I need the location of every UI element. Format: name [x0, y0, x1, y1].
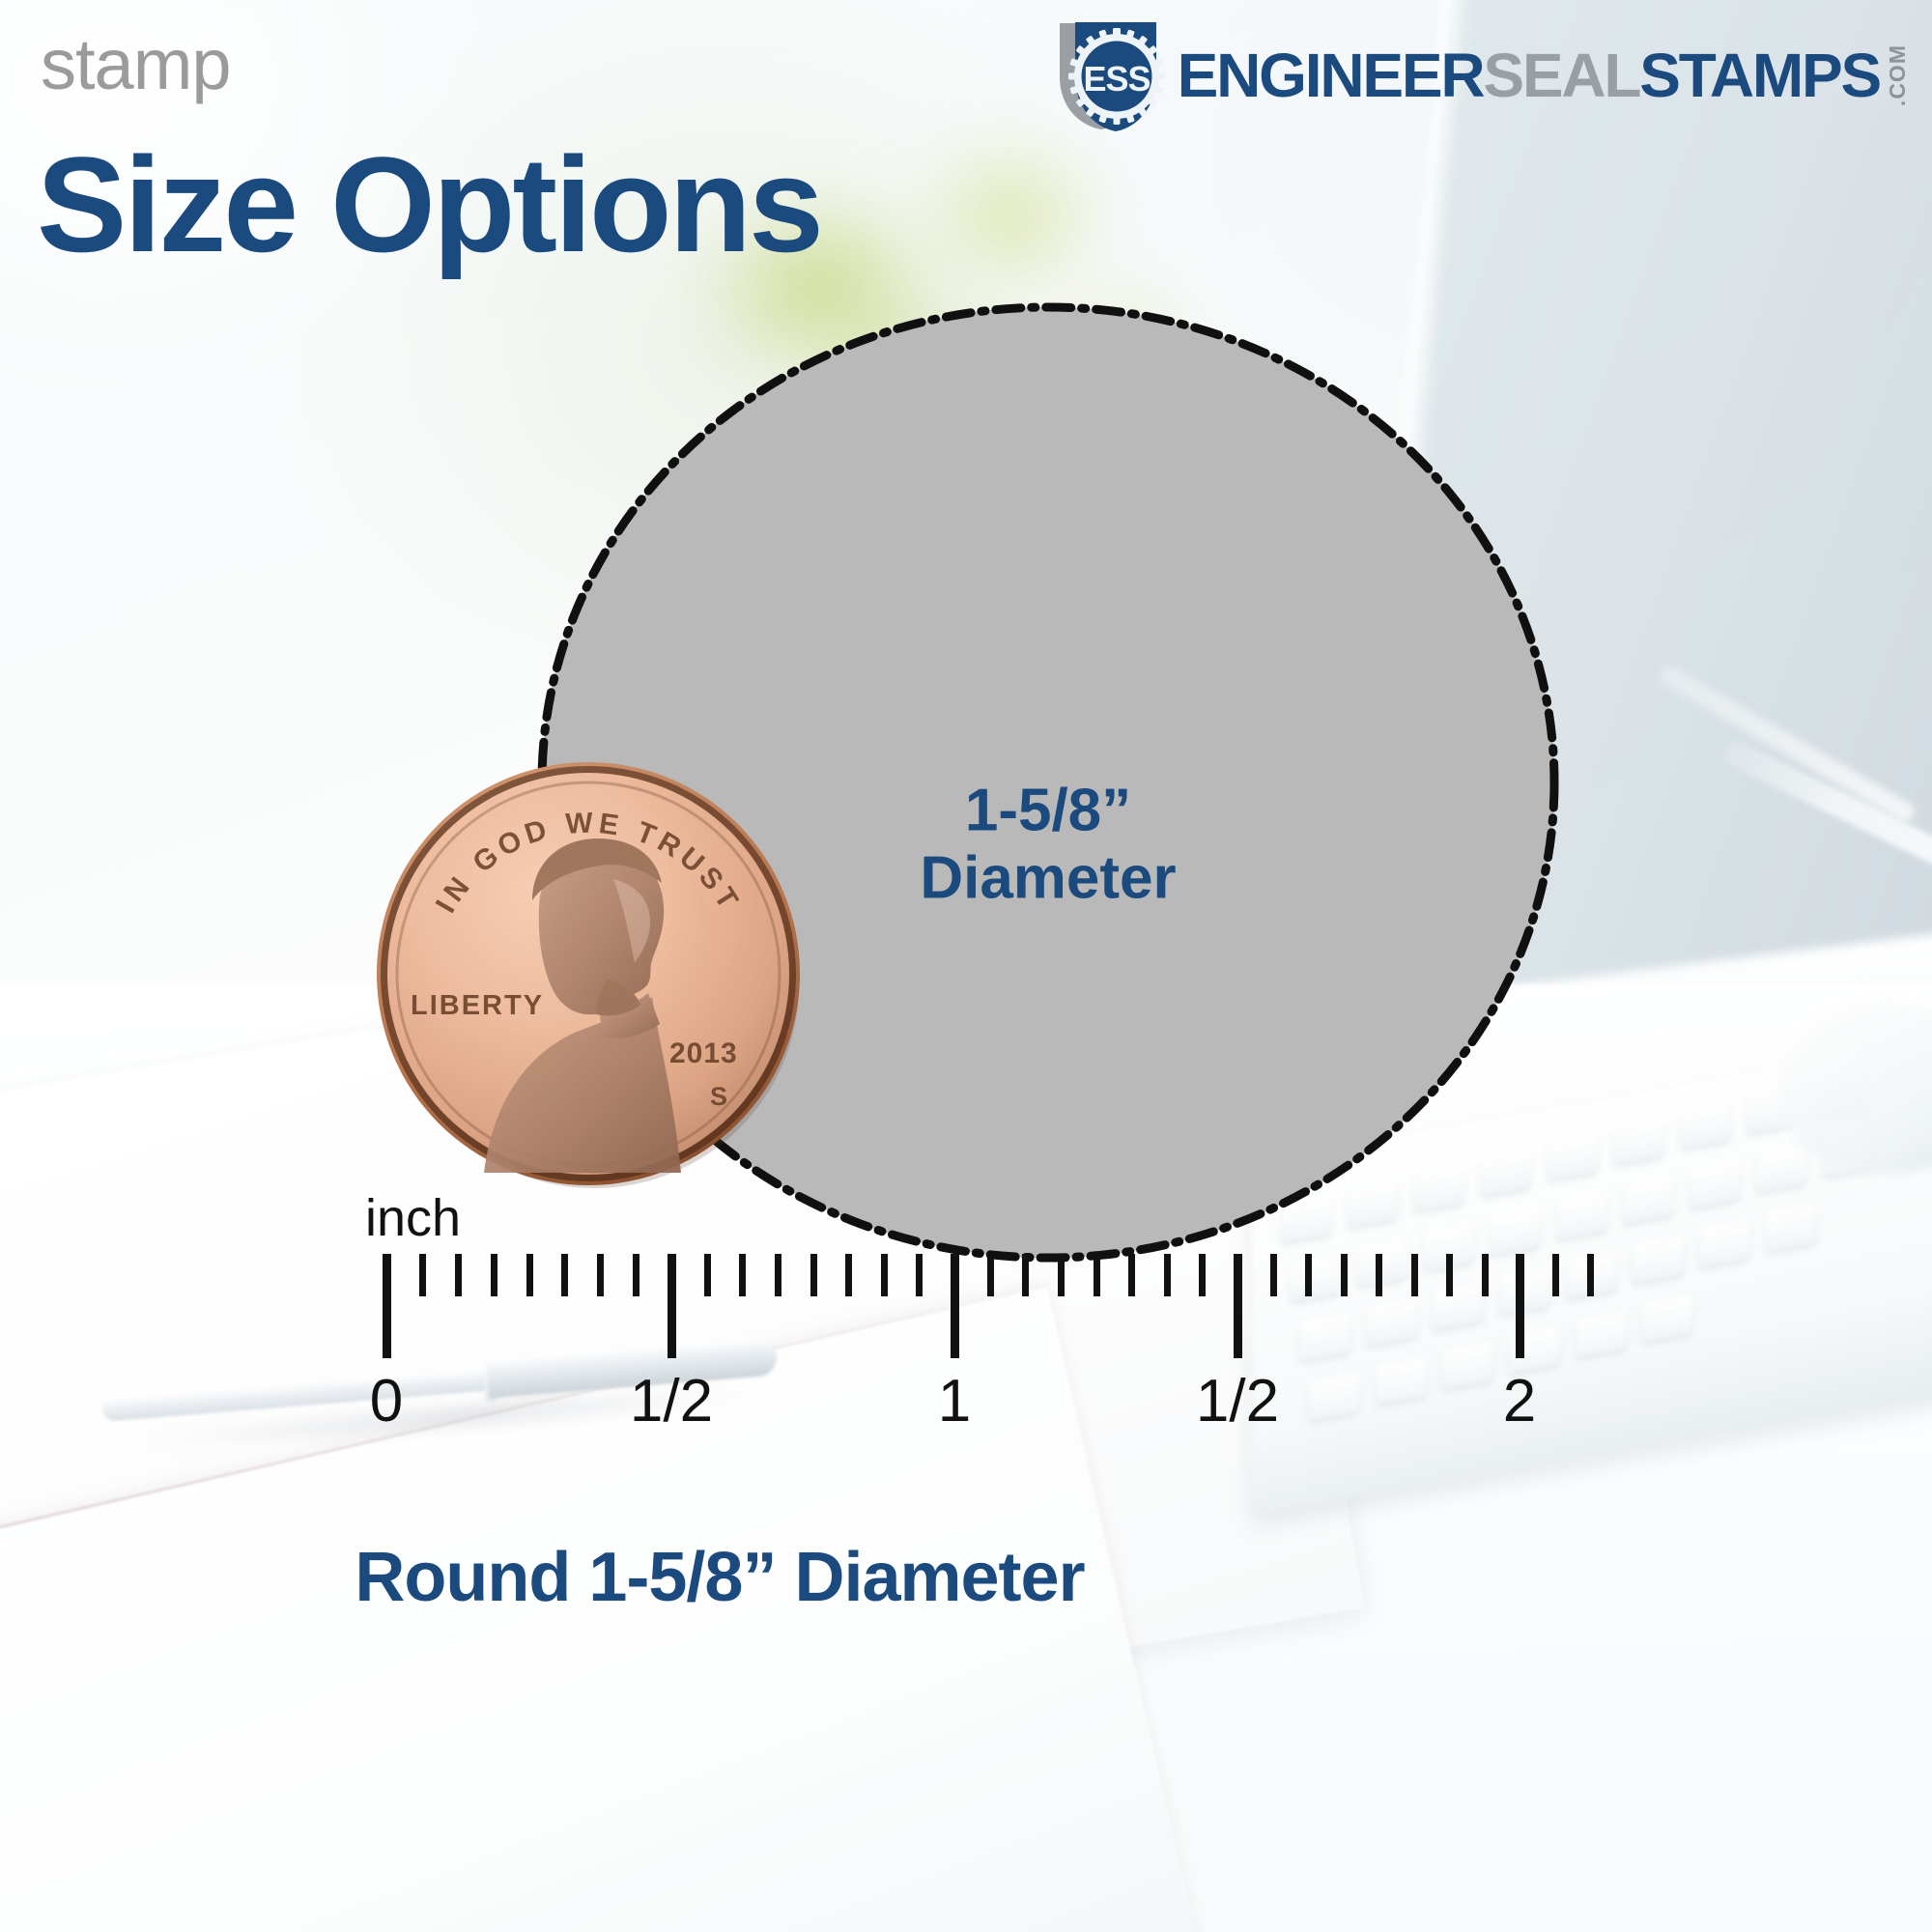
ruler-tick-minor — [1022, 1254, 1029, 1296]
ruler-tick-minor — [1341, 1254, 1348, 1296]
ruler-tick-minor — [1446, 1254, 1453, 1296]
size-caption: Round 1-5/8” Diameter — [0, 1538, 1439, 1617]
ruler-tick-minor — [455, 1254, 462, 1296]
circle-size-value: 1-5/8” — [920, 778, 1176, 844]
logo-word-stamps: STAMPS — [1639, 44, 1880, 106]
logo-tld: .COM — [1885, 44, 1911, 106]
ruler-tick-minor — [1376, 1254, 1382, 1296]
svg-text:LIBERTY: LIBERTY — [411, 990, 544, 1021]
ruler-tick-minor — [419, 1254, 426, 1296]
gear-shield-icon: ESS — [1054, 17, 1172, 133]
logo-word-seal: SEAL — [1483, 44, 1639, 106]
ruler-tick-major — [1234, 1254, 1242, 1358]
eyebrow-label: stamp — [41, 23, 231, 105]
ruler-tick-minor — [1199, 1254, 1206, 1296]
ruler-label-0: 0 — [370, 1367, 403, 1435]
ruler-tick-minor — [1587, 1254, 1594, 1296]
ruler-tick-minor — [1482, 1254, 1489, 1296]
ruler-label-2: 1 — [938, 1367, 971, 1435]
ruler-tick-minor — [1094, 1254, 1100, 1296]
logo-wordmark: ENGINEER SEAL STAMPS .COM — [1178, 44, 1911, 106]
ruler-tick-minor — [775, 1254, 781, 1296]
ruler-tick-minor — [1305, 1254, 1312, 1296]
ruler-tick-major — [668, 1254, 676, 1358]
ruler-tick-minor — [1058, 1254, 1065, 1296]
ruler-tick-minor — [739, 1254, 746, 1296]
page-title: Size Options — [37, 137, 821, 272]
ruler-tick-minor — [1164, 1254, 1171, 1296]
penny-reference-coin: IN GOD WE TRUST LIBERTY 2013 S — [370, 755, 807, 1192]
ruler-tick-minor — [633, 1254, 639, 1296]
ruler-tick-minor — [597, 1254, 604, 1296]
ruler-tick-minor — [845, 1254, 852, 1296]
ruler-tick-minor — [561, 1254, 568, 1296]
ruler-tick-major — [383, 1254, 391, 1358]
ruler-label-4: 2 — [1503, 1367, 1536, 1435]
svg-text:2013: 2013 — [669, 1037, 738, 1069]
inch-ruler: inch 01/211/22 — [0, 1188, 1932, 1497]
ruler-tick-minor — [1552, 1254, 1559, 1296]
ruler-tick-minor — [1128, 1254, 1135, 1296]
ruler-tick-major — [951, 1254, 959, 1358]
ruler-tick-minor — [810, 1254, 817, 1296]
logo-word-engineer: ENGINEER — [1178, 44, 1484, 106]
ruler-label-1: 1/2 — [630, 1367, 713, 1435]
ruler-tick-minor — [987, 1254, 994, 1296]
circle-size-label: 1-5/8” Diameter — [920, 778, 1176, 912]
svg-text:ESS: ESS — [1083, 59, 1150, 99]
ruler-tick-minor — [491, 1254, 497, 1296]
ruler-tick-minor — [1411, 1254, 1418, 1296]
ruler-tick-minor — [526, 1254, 533, 1296]
ruler-tick-minor — [881, 1254, 888, 1296]
ruler-label-3: 1/2 — [1196, 1367, 1279, 1435]
ruler-tick-minor — [1270, 1254, 1277, 1296]
circle-size-unit: Diameter — [920, 844, 1176, 911]
ruler-tick-minor — [704, 1254, 711, 1296]
ruler-tick-major — [1516, 1254, 1524, 1358]
brand-logo[interactable]: ESS ENGINEER SEAL STAMPS .COM — [1054, 17, 1911, 133]
ruler-tick-minor — [916, 1254, 923, 1296]
ruler-unit-label: inch — [365, 1188, 461, 1248]
svg-text:S: S — [710, 1082, 727, 1111]
